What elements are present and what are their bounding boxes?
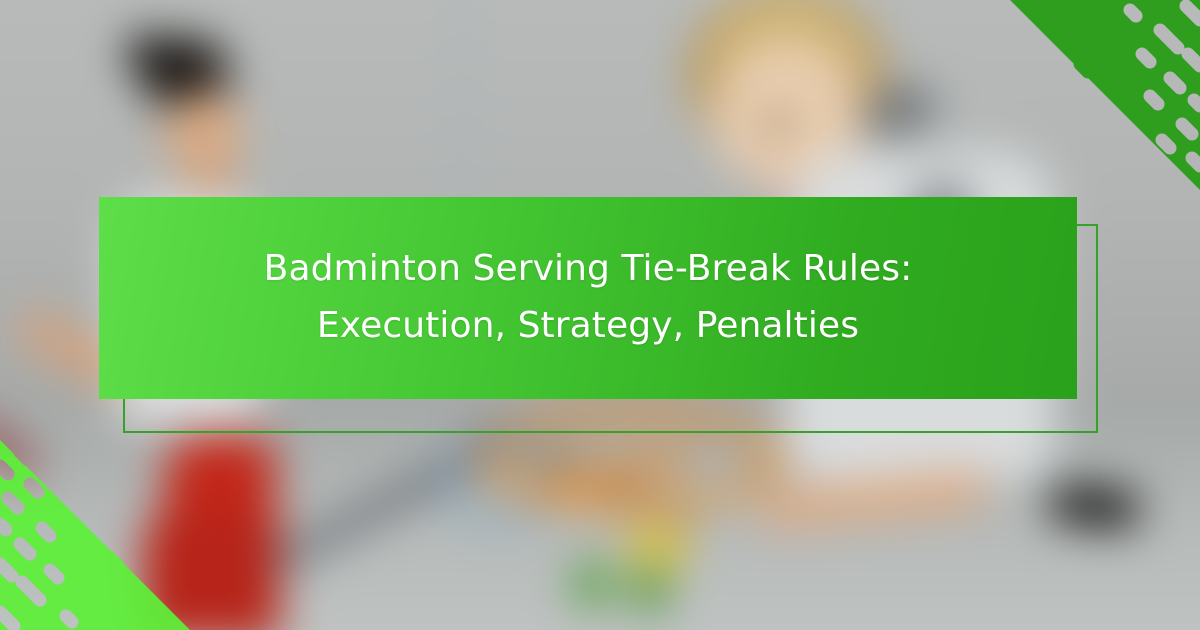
corner-decoration-top-right xyxy=(1010,0,1200,190)
corner-decoration-bottom-left xyxy=(0,440,190,630)
left-player-bun xyxy=(127,34,169,74)
banner-title-line-2: Execution, Strategy, Penalties xyxy=(317,298,859,355)
hero-banner: Badminton Serving Tie-Break Rules: Execu… xyxy=(0,0,1200,630)
green-shoe-right xyxy=(633,570,667,612)
shuttle-yellow xyxy=(626,525,690,571)
green-shoe-left xyxy=(574,563,610,607)
banner-title-line-1: Badminton Serving Tie-Break Rules: xyxy=(264,241,913,298)
right-player-eye xyxy=(765,113,791,135)
title-banner: Badminton Serving Tie-Break Rules: Execu… xyxy=(99,197,1077,399)
